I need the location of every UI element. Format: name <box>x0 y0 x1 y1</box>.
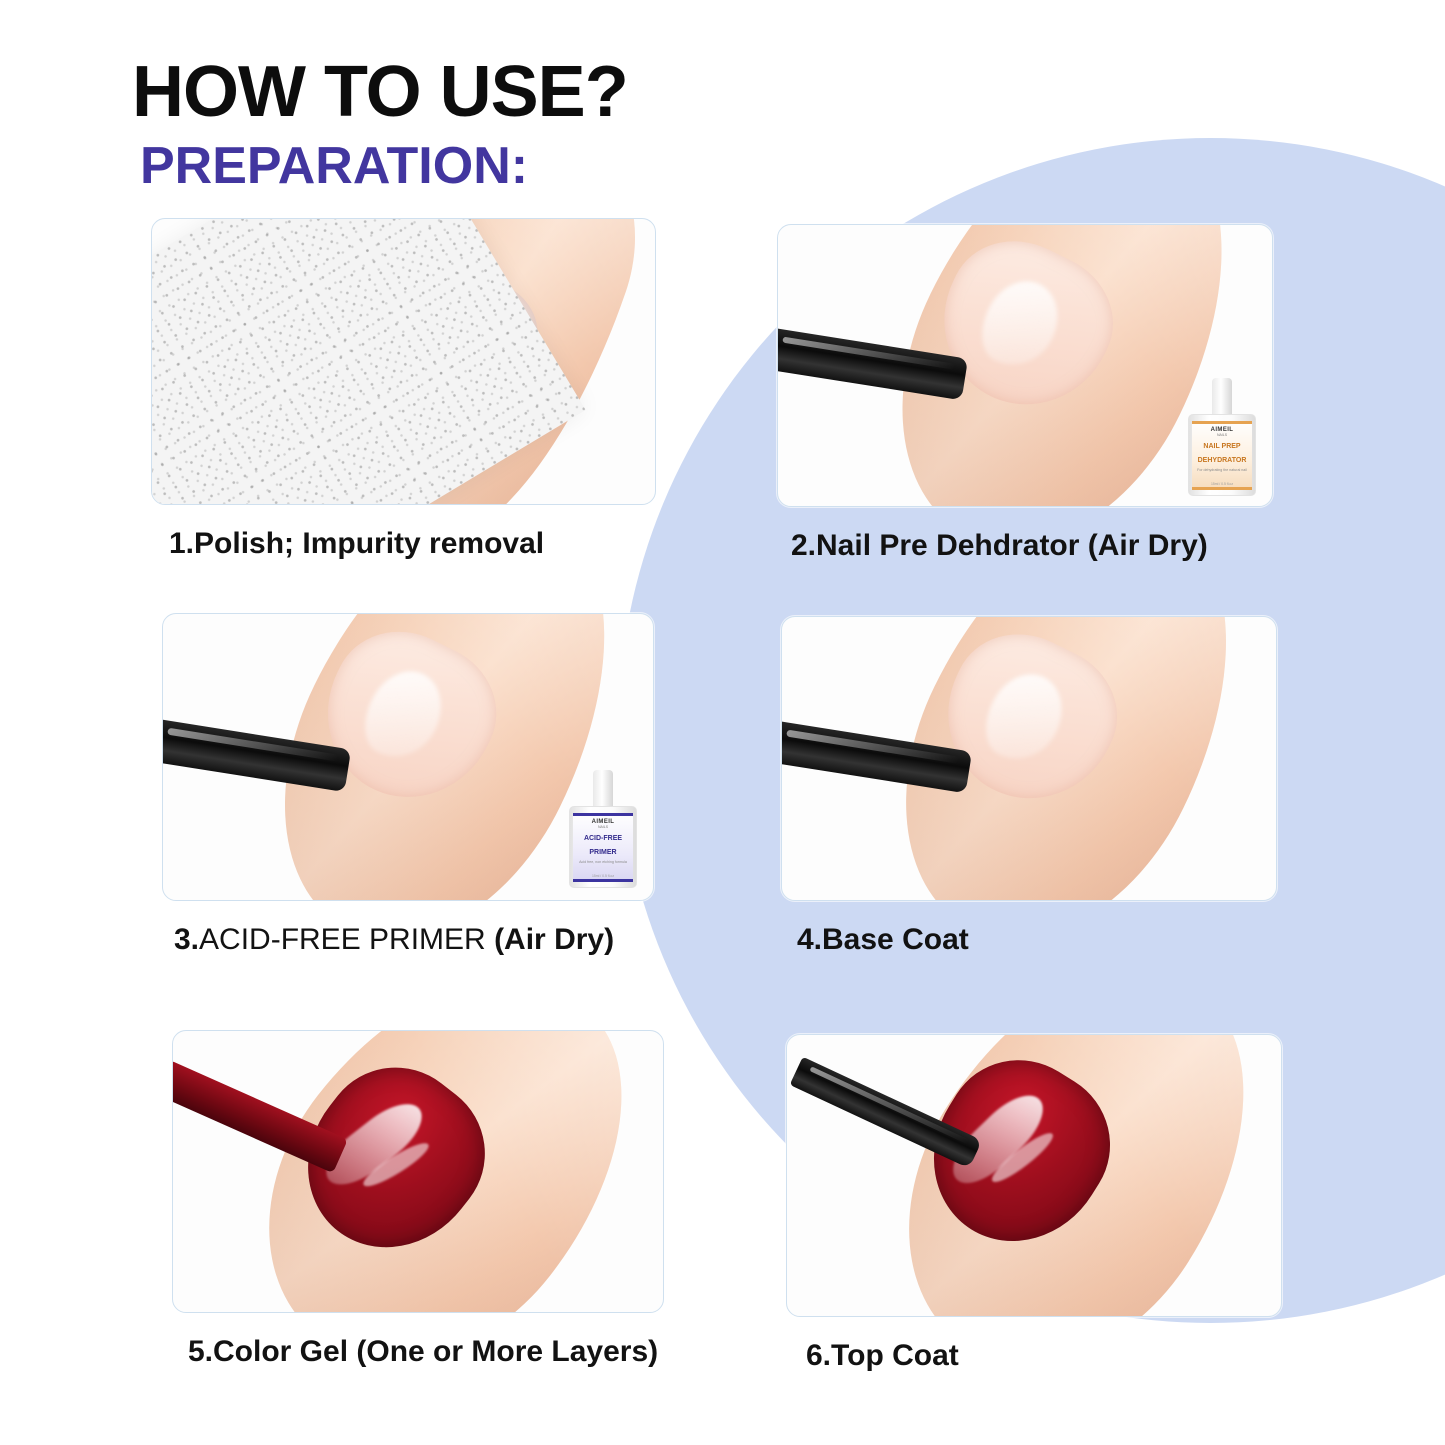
step-4-photo <box>781 616 1277 901</box>
step-2-photo: AIMEIL NAILS NAIL PREP DEHYDRATOR For de… <box>777 224 1273 507</box>
nail-prep-dehydrator-bottle: AIMEIL NAILS NAIL PREP DEHYDRATOR For de… <box>1186 378 1258 496</box>
bottle-cap <box>1212 378 1232 418</box>
bottle-sub-brand: NAILS <box>598 825 608 829</box>
step-1-caption: 1.Polish; Impurity removal <box>169 527 656 562</box>
step-2: AIMEIL NAILS NAIL PREP DEHYDRATOR For de… <box>777 224 1273 564</box>
bottle-label: AIMEIL NAILS ACID-FREE PRIMER Acid free,… <box>573 813 633 882</box>
bottle-product-line-2: DEHYDRATOR <box>1198 457 1247 465</box>
nail-shine <box>973 661 1075 772</box>
step-3-caption-main: ACID-FREE PRIMER <box>199 923 494 956</box>
steps-grid: 1.Polish; Impurity removal AIMEIL NAILS … <box>0 0 1445 1445</box>
bottle-product-line-1: ACID-FREE <box>584 835 622 843</box>
step-4-caption-text: 4.Base Coat <box>797 923 969 956</box>
step-6: 6.Top Coat <box>786 1034 1282 1374</box>
step-1: 1.Polish; Impurity removal <box>151 218 656 562</box>
step-5: 5.Color Gel (One or More Layers) <box>172 1030 664 1370</box>
step-3-photo: AIMEIL NAILS ACID-FREE PRIMER Acid free,… <box>162 613 654 901</box>
brush-gloss <box>809 1066 969 1144</box>
step-3-caption: 3.ACID-FREE PRIMER (Air Dry) <box>174 923 654 958</box>
step-1-photo <box>151 218 656 505</box>
acid-free-primer-bottle: AIMEIL NAILS ACID-FREE PRIMER Acid free,… <box>567 770 639 888</box>
bottle-cap <box>593 770 613 810</box>
step-5-photo <box>172 1030 664 1313</box>
bottle-volume: 15ml / 0.5 fl.oz <box>592 874 614 878</box>
step-5-caption-text: 5.Color Gel (One or More Layers) <box>188 1335 658 1368</box>
step-6-photo <box>786 1034 1282 1317</box>
bottle-body: AIMEIL NAILS NAIL PREP DEHYDRATOR For de… <box>1188 414 1256 496</box>
bottle-sub-brand: NAILS <box>1217 433 1227 437</box>
step-4-caption: 4.Base Coat <box>797 923 1277 958</box>
step-3: AIMEIL NAILS ACID-FREE PRIMER Acid free,… <box>162 613 654 958</box>
step-4: 4.Base Coat <box>781 616 1277 958</box>
step-2-caption-text: 2.Nail Pre Dehdrator (Air Dry) <box>791 529 1208 562</box>
step-3-caption-lead: 3. <box>174 923 199 956</box>
bottle-tagline: For dehydrating the natural nail <box>1197 468 1247 472</box>
nail-shine <box>969 269 1071 379</box>
step-3-caption-tail: (Air Dry) <box>494 923 614 956</box>
step-2-caption: 2.Nail Pre Dehdrator (Air Dry) <box>791 529 1273 564</box>
step-5-caption: 5.Color Gel (One or More Layers) <box>188 1335 664 1370</box>
bottle-body: AIMEIL NAILS ACID-FREE PRIMER Acid free,… <box>569 806 637 888</box>
bottle-tagline: Acid free, non etching formula <box>579 860 627 864</box>
step-6-caption: 6.Top Coat <box>806 1339 1282 1374</box>
bottle-label: AIMEIL NAILS NAIL PREP DEHYDRATOR For de… <box>1192 421 1252 490</box>
page-title: HOW TO USE? <box>132 56 628 128</box>
page-subtitle: PREPARATION: <box>140 140 528 192</box>
bottle-volume: 15ml / 0.5 fl.oz <box>1211 482 1233 486</box>
bottle-product-line-2: PRIMER <box>589 849 616 857</box>
nail-shine <box>352 659 454 770</box>
step-1-caption-text: 1.Polish; Impurity removal <box>169 527 544 560</box>
bottle-product-line-1: NAIL PREP <box>1203 443 1240 451</box>
step-6-caption-text: 6.Top Coat <box>806 1339 959 1372</box>
